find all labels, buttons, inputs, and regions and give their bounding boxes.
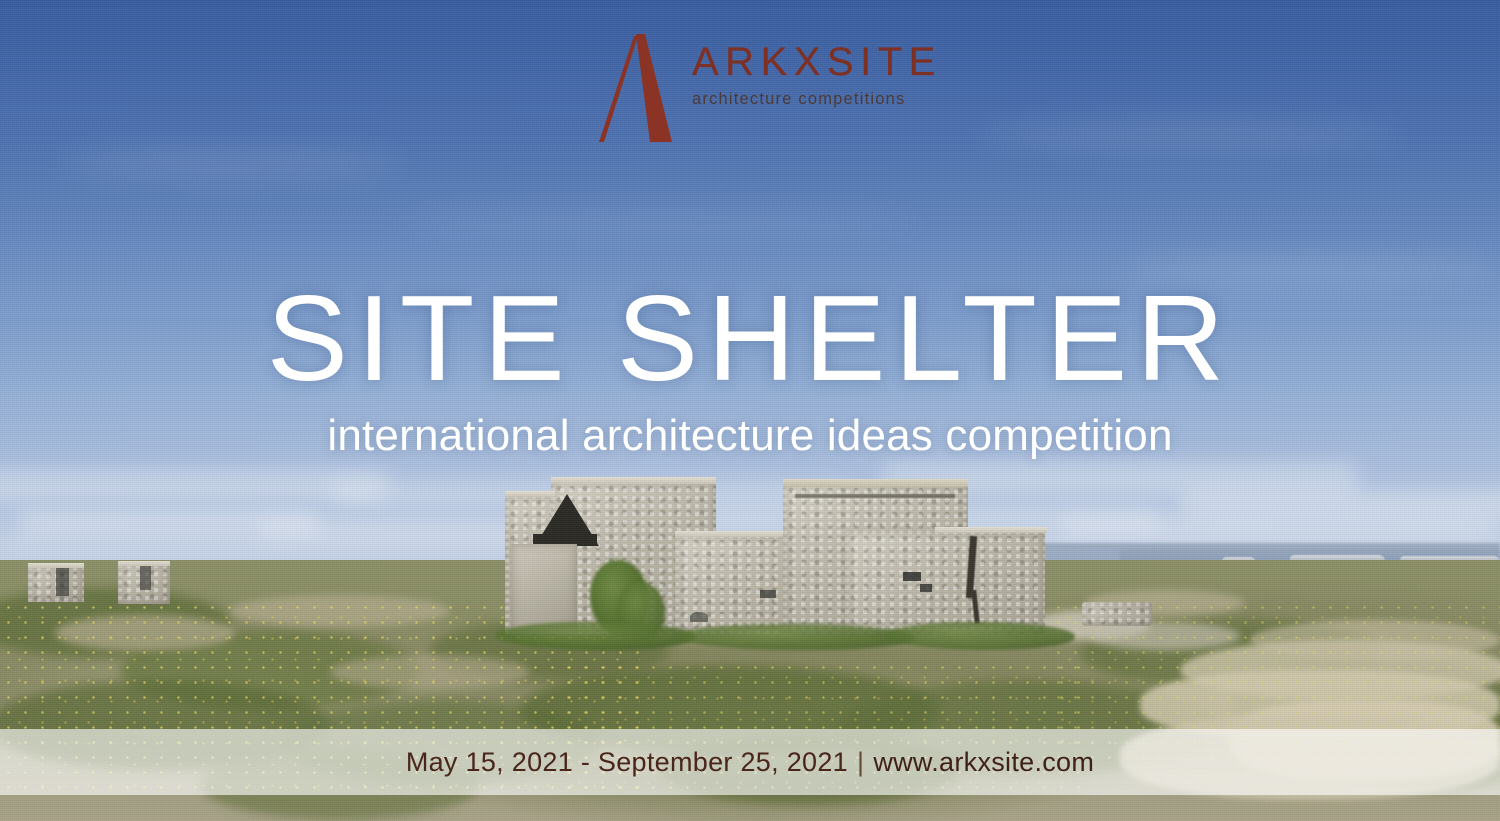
ruin-hole <box>903 572 921 581</box>
stone-block <box>1082 602 1152 626</box>
cloud-wisp <box>400 210 920 236</box>
rock-cluster-right <box>1082 602 1152 628</box>
arkxsite-tagline: architecture competitions <box>692 91 932 108</box>
ruin-right-lower-wall <box>845 530 1045 634</box>
stone-cap <box>28 563 84 568</box>
ruin-shadow <box>140 566 151 590</box>
small-ruin-left <box>28 560 88 602</box>
page-subtitle: international architecture ideas competi… <box>0 412 1500 460</box>
arkxsite-logo[interactable]: ARKXSITE architecture competitions <box>588 32 928 144</box>
footer-separator: | <box>848 747 873 778</box>
ruin-right-lower-cap <box>935 527 1047 533</box>
main-stone-ruin <box>495 472 1055 642</box>
ruin-right-lintel-shadow <box>795 494 955 498</box>
ruin-hole <box>760 590 776 598</box>
cloud-wisp <box>60 150 400 176</box>
arkxsite-a-wedge-mark <box>588 32 688 144</box>
footer-content: May 15, 2021 - September 25, 2021 | www.… <box>0 729 1500 795</box>
cloud-layer <box>1180 490 1500 518</box>
ruin-hole <box>920 584 932 592</box>
footer-date-range: May 15, 2021 - September 25, 2021 <box>406 747 848 778</box>
cloud-layer <box>1060 516 1500 536</box>
footer-website-link[interactable]: www.arkxsite.com <box>873 747 1094 778</box>
ruin-shadow <box>56 568 69 596</box>
small-ruin-left-2 <box>118 558 176 604</box>
arkxsite-wordmark: ARKXSITE <box>692 42 932 82</box>
arkxsite-wordmark-block: ARKXSITE architecture competitions <box>692 42 932 108</box>
page-title: SITE SHELTER <box>0 276 1500 400</box>
poster-canvas: ARKXSITE architecture competitions SITE … <box>0 0 1500 821</box>
ruin-hole <box>690 612 708 622</box>
stone-cap <box>118 561 170 566</box>
footer-band: May 15, 2021 - September 25, 2021 | www.… <box>0 729 1500 795</box>
ruin-left-cap <box>551 477 716 484</box>
ruin-right-cap <box>783 479 968 487</box>
cloud-wisp <box>980 120 1400 150</box>
ruin-left-lower-wall <box>511 544 577 634</box>
